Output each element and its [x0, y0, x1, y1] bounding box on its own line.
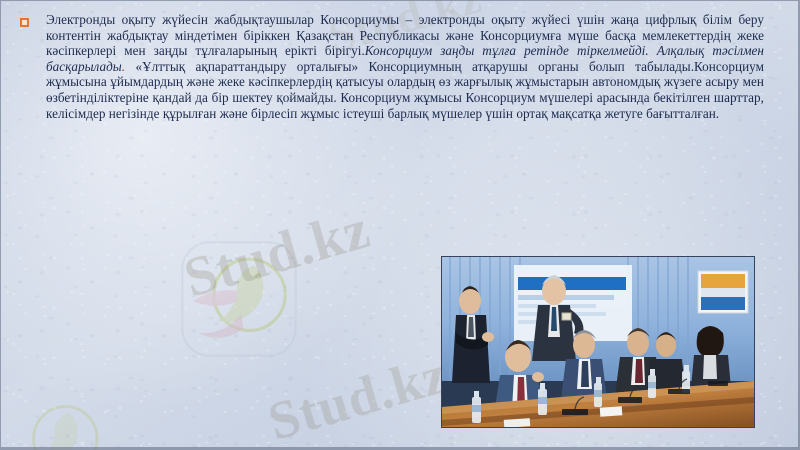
- slide-content-block: Электронды оқыту жүйесін жабдықтаушылар …: [18, 12, 764, 121]
- bullet-paragraph-row: Электронды оқыту жүйесін жабдықтаушылар …: [18, 12, 764, 121]
- watermark-text-bottom: Stud.kz: [261, 343, 454, 450]
- watermark-text-middle: Stud.kz: [177, 197, 377, 311]
- conference-meeting-photo: [441, 256, 755, 428]
- body-paragraph: Электронды оқыту жүйесін жабдықтаушылар …: [46, 12, 764, 121]
- run-normal-2: «Ұлттық ақпараттандыру орталығы» Консорц…: [46, 59, 764, 121]
- hummingbird-logo-icon: [176, 236, 302, 362]
- square-bullet-icon: [20, 18, 29, 27]
- presentation-slide: Stud.kz Stud.kz Stud.kz Электронды оқыту…: [0, 0, 800, 450]
- hummingbird-logo-icon-secondary: [0, 386, 112, 450]
